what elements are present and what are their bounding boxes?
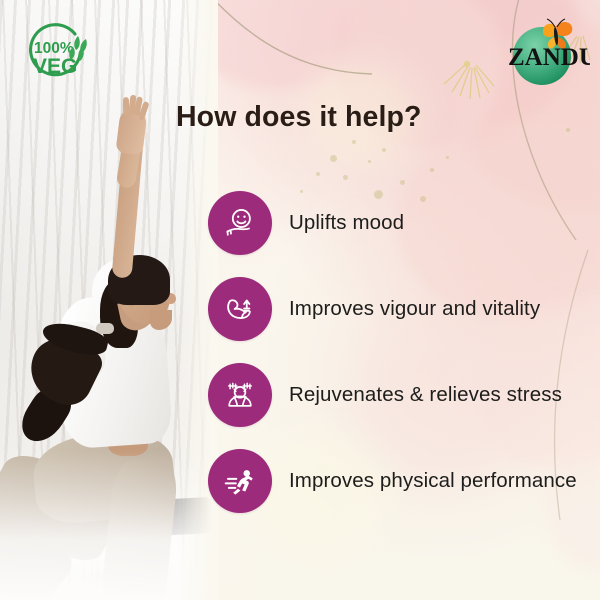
- benefit-row-physical-performance: Improves physical performance: [208, 449, 594, 513]
- benefit-label: Uplifts mood: [289, 211, 404, 235]
- benefit-row-rejuvenates-stress: Rejuvenates & relieves stress: [208, 363, 594, 427]
- paint-speck: [400, 180, 405, 185]
- benefit-label: Rejuvenates & relieves stress: [289, 383, 562, 407]
- paint-speck: [316, 172, 320, 176]
- paint-speck: [352, 140, 356, 144]
- benefits-list: Uplifts mood Improves vigour and vitalit…: [208, 191, 594, 513]
- zandu-logo[interactable]: ZANDU: [494, 16, 590, 88]
- page-title: How does it help?: [176, 101, 422, 134]
- poster-canvas: 100% VEG: [0, 0, 600, 600]
- benefit-label: Improves physical performance: [289, 469, 577, 493]
- 100-percent-veg-badge: 100% VEG: [18, 22, 92, 88]
- running-person-icon: [208, 449, 272, 513]
- paint-speck: [330, 155, 337, 162]
- paint-speck: [343, 175, 348, 180]
- benefit-label: Improves vigour and vitality: [289, 297, 540, 321]
- paint-speck: [368, 160, 371, 163]
- smiley-in-hand-icon: [208, 191, 272, 255]
- paint-speck: [430, 168, 434, 172]
- zandu-wordmark: ZANDU: [508, 44, 590, 71]
- hair-tie: [96, 323, 114, 334]
- stressed-person-icon: [208, 363, 272, 427]
- paint-speck: [446, 156, 449, 159]
- flexed-bicep-arrow-icon: [208, 277, 272, 341]
- paint-speck: [382, 148, 386, 152]
- raised-hand: [115, 109, 147, 156]
- benefit-row-uplifts-mood: Uplifts mood: [208, 191, 594, 255]
- paint-speck: [566, 128, 570, 132]
- benefit-row-vigour-vitality: Improves vigour and vitality: [208, 277, 594, 341]
